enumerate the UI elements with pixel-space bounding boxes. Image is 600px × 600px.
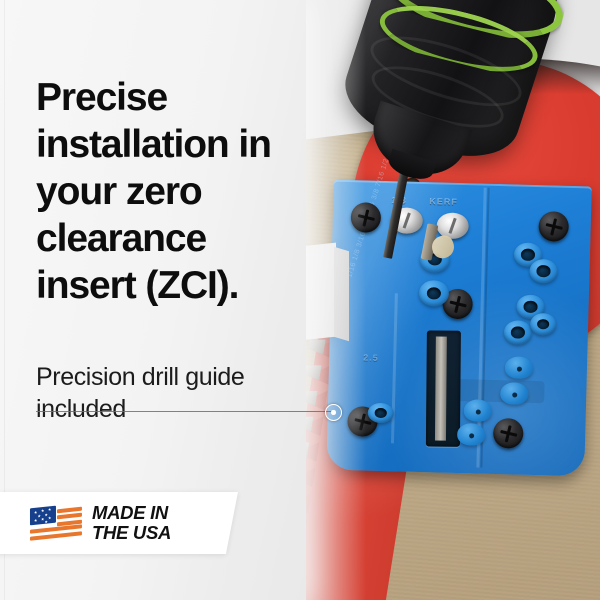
flag-stripe	[57, 513, 82, 520]
flag-canton	[30, 506, 56, 526]
badge-line-1: MADE IN	[92, 503, 171, 523]
callout-marker-icon	[325, 404, 342, 421]
jig-scale-label: 2.5	[363, 353, 379, 363]
carbide-tip	[308, 337, 326, 354]
promo-image: 1/8 KERF 2.5 1/16 1/8 3/16 1/4 5/16 3/8 …	[0, 0, 600, 600]
flag-star	[44, 520, 47, 524]
bushing-hole	[427, 287, 442, 300]
flag-star	[34, 511, 37, 515]
bushing-hole	[537, 319, 550, 330]
bushing-hole	[374, 408, 387, 418]
flag-star	[44, 513, 47, 517]
bushing-hole	[537, 265, 551, 277]
divider-rule	[36, 411, 332, 412]
subheadline: Precision drill guide included	[36, 361, 286, 425]
bushing-hole	[511, 327, 525, 339]
jig-pad	[457, 423, 486, 446]
pad-hole	[512, 392, 517, 397]
pad-hole	[516, 366, 521, 371]
flag-star	[41, 517, 44, 521]
flag-star	[34, 519, 37, 523]
made-in-usa-badge: MADE IN THE USA	[0, 492, 238, 554]
flag-star	[41, 509, 44, 513]
flag-star	[48, 516, 51, 520]
flag-star	[37, 514, 40, 518]
pad-hole	[475, 409, 480, 414]
jig-pad	[464, 399, 493, 422]
us-flag-icon	[30, 506, 82, 540]
carbide-tip	[303, 363, 321, 380]
flag-star	[48, 508, 51, 512]
headline: Precise installation in your zero cleara…	[36, 74, 298, 309]
bushing-hole	[524, 301, 538, 313]
jig-pad	[505, 356, 534, 379]
made-in-usa-text: MADE IN THE USA	[92, 503, 171, 543]
jig-pad	[500, 382, 529, 405]
jig-recess	[448, 379, 545, 404]
jig-blade-slot	[426, 330, 461, 446]
slot-blade-edge	[435, 337, 447, 441]
badge-line-2: THE USA	[92, 523, 171, 543]
bushing-hole	[521, 249, 535, 261]
pad-hole	[469, 433, 474, 438]
